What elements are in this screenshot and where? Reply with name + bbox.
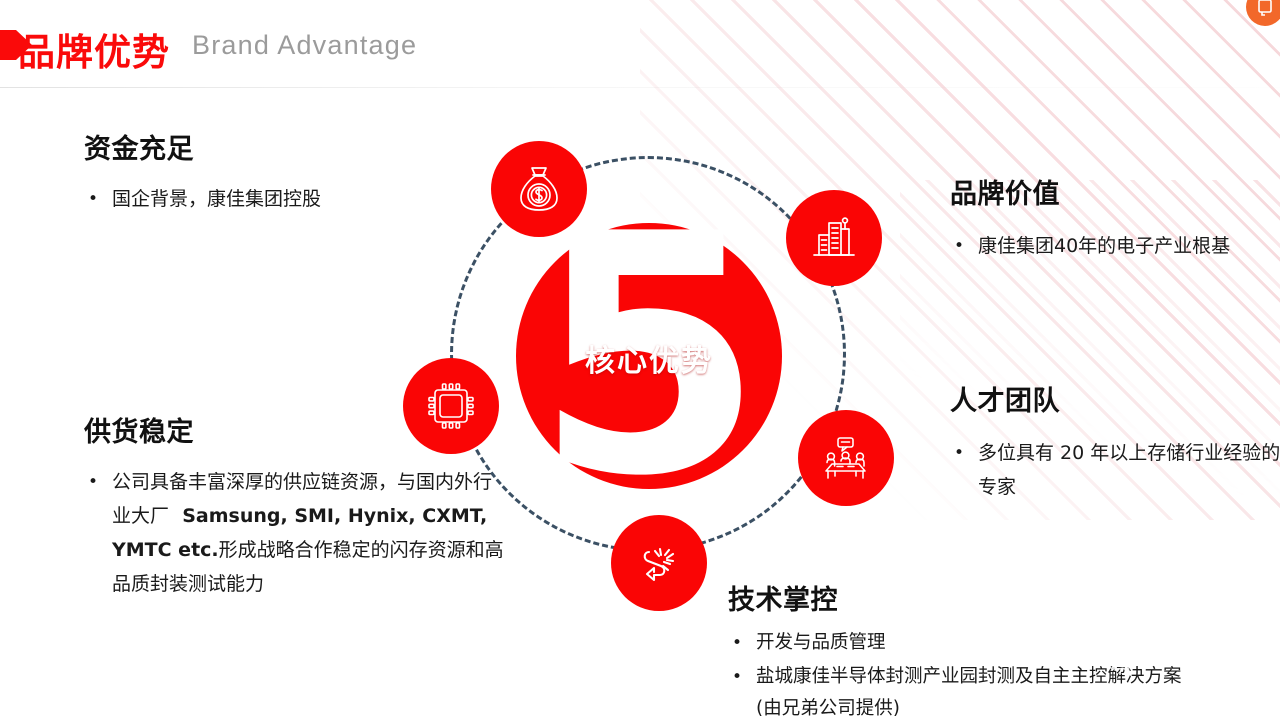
tech-control-icon [635,539,683,587]
block-talent-title: 人才团队 [950,379,1280,418]
header-divider [0,87,1280,88]
node-tech-control[interactable] [611,515,707,611]
block-tech-control-bullets: 开发与品质管理 盐城康佳半导体封测产业园封测及自主主控解决方案 (由兄弟公司提供… [728,627,1198,716]
block-brand-value-bullets: 康佳集团40年的电子产业根基 [950,229,1280,263]
block-tech-control-title: 技术掌控 [728,578,1198,617]
page-title: 品牌优势 [18,22,170,76]
page-subtitle: Brand Advantage [192,30,417,61]
block-funds-title: 资金充足 [84,127,504,166]
list-item: 多位具有 20 年以上存储行业经验的专家 [950,436,1280,504]
list-item: 开发与品质管理 [728,627,1198,659]
block-supply-bullets: 公司具备丰富深厚的供应链资源，与国内外行业大厂 Samsung, SMI, Hy… [84,465,504,601]
list-item: 公司具备丰富深厚的供应链资源，与国内外行业大厂 Samsung, SMI, Hy… [84,465,504,601]
block-supply: 供货稳定 公司具备丰富深厚的供应链资源，与国内外行业大厂 Samsung, SM… [84,410,504,603]
list-item: 康佳集团40年的电子产业根基 [950,229,1280,263]
block-supply-title: 供货稳定 [84,410,504,449]
block-brand-value-title: 品牌价值 [950,172,1280,211]
list-item: 盐城康佳半导体封测产业园封测及自主主控解决方案 (由兄弟公司提供) [728,661,1198,716]
block-brand-value: 品牌价值 康佳集团40年的电子产业根基 [950,172,1280,265]
node-brand-value[interactable] [786,190,882,286]
block-talent-bullets: 多位具有 20 年以上存储行业经验的专家 [950,436,1280,504]
core-label: 核心优势 [516,336,782,380]
office-buildings-icon [809,215,859,261]
badge-glyph-icon [1256,0,1274,16]
block-funds-bullets: 国企背景，康佳集团控股 [84,182,504,216]
money-bag-icon [516,165,562,213]
node-funds[interactable] [491,141,587,237]
team-meeting-icon [820,435,872,481]
slide-header: 品牌优势 Brand Advantage [0,0,1280,88]
block-tech-control: 技术掌控 开发与品质管理 盐城康佳半导体封测产业园封测及自主主控解决方案 (由兄… [728,578,1198,716]
slide-root: 品牌优势 Brand Advantage 5 核心优势 [0,0,1280,716]
node-talent[interactable] [798,410,894,506]
block-funds: 资金充足 国企背景，康佳集团控股 [84,127,504,218]
list-item: 国企背景，康佳集团控股 [84,182,504,216]
block-talent: 人才团队 多位具有 20 年以上存储行业经验的专家 [950,379,1280,506]
